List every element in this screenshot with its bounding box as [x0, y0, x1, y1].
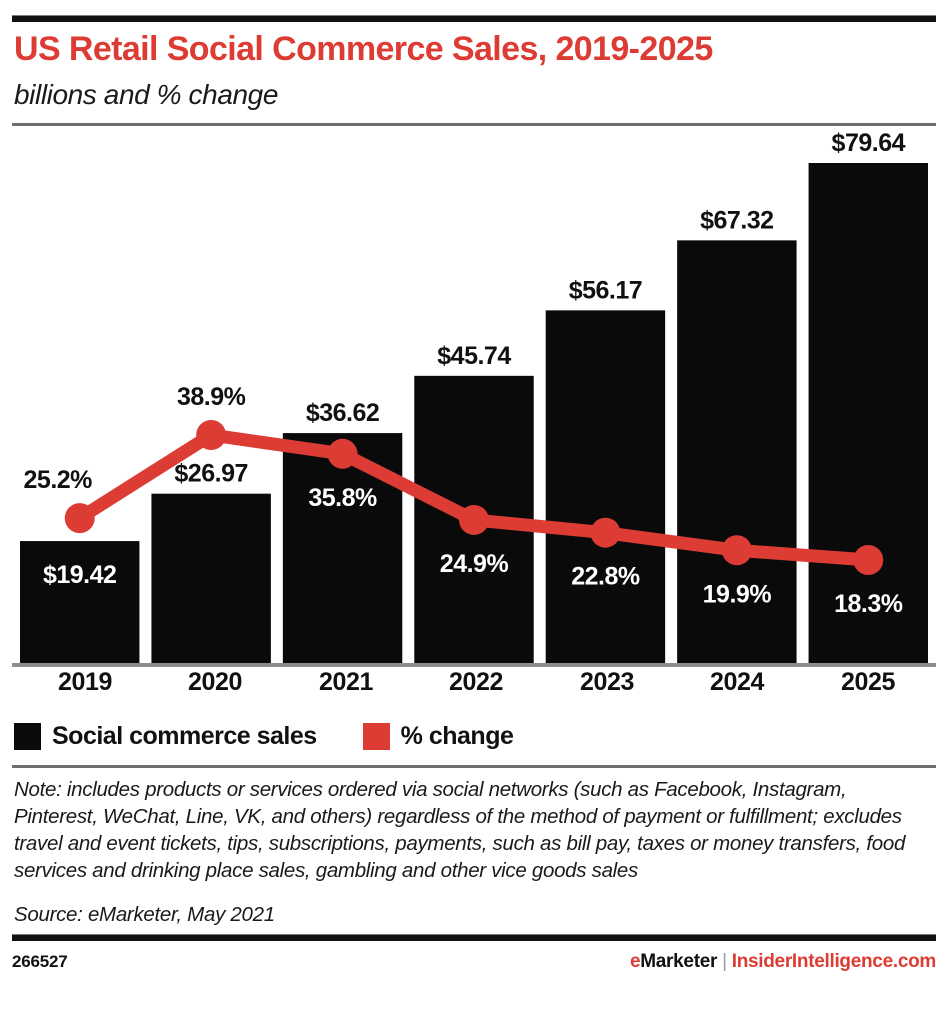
brand-separator: |	[722, 951, 727, 972]
bar-2025	[809, 163, 928, 663]
bar-rect-2023	[546, 310, 665, 663]
bar-rect-2025	[809, 163, 928, 663]
pct-change-marker-2021	[328, 439, 358, 469]
legend-label-pct-change: % change	[401, 722, 514, 751]
pct-change-marker-2020	[196, 420, 226, 450]
pct-value-label-2020: 38.9%	[177, 383, 246, 411]
pct-change-marker-2024	[722, 535, 752, 565]
chart-svg: $19.42$26.97$36.62$45.74$56.17$67.32$79.…	[0, 128, 948, 668]
pct-value-label-2021: 35.8%	[308, 484, 377, 512]
chart-source: Source: eMarketer, May 2021	[14, 903, 919, 927]
x-axis-line	[12, 663, 936, 667]
x-tick-2019: 2019	[20, 668, 150, 697]
note-divider	[12, 765, 936, 768]
bar-2019	[20, 541, 139, 663]
legend-item-pct-change: % change	[363, 722, 514, 751]
x-tick-2020: 2020	[150, 668, 280, 697]
pct-value-label-2024: 19.9%	[703, 580, 772, 608]
pct-value-label-2019: 25.2%	[24, 466, 93, 494]
page-title: US Retail Social Commerce Sales, 2019-20…	[14, 32, 914, 68]
brand-site-link[interactable]: InsiderIntelligence.com	[732, 951, 936, 972]
pct-value-label-2025: 18.3%	[834, 590, 903, 618]
pct-value-label-2022: 24.9%	[440, 550, 509, 578]
bar-value-label-2025: $79.64	[832, 129, 906, 157]
chart-note: Note: includes products or services orde…	[14, 776, 919, 884]
bar-value-label-2020: $26.97	[174, 460, 247, 488]
bar-rect-2019	[20, 541, 139, 663]
legend-item-sales: Social commerce sales	[14, 722, 317, 751]
x-tick-2025: 2025	[803, 668, 933, 697]
header-divider	[12, 123, 936, 126]
pct-value-label-2023: 22.8%	[571, 563, 640, 591]
footer-brand: eMarketer|InsiderIntelligence.com	[630, 951, 936, 973]
footer-chart-id: 266527	[12, 952, 68, 972]
legend-label-sales: Social commerce sales	[52, 722, 317, 751]
chart-plot-area: $19.42$26.97$36.62$45.74$56.17$67.32$79.…	[0, 128, 948, 668]
pct-change-marker-2025	[853, 545, 883, 575]
top-rule	[12, 15, 936, 22]
chart-footer: 266527 eMarketer|InsiderIntelligence.com	[12, 948, 936, 976]
page-subtitle: billions and % change	[14, 80, 914, 111]
chart-page: US Retail Social Commerce Sales, 2019-20…	[0, 0, 948, 1010]
chart-legend: Social commerce sales % change	[14, 718, 513, 754]
x-tick-2023: 2023	[542, 668, 672, 697]
x-tick-2021: 2021	[281, 668, 411, 697]
bar-2020	[151, 494, 270, 663]
x-tick-2022: 2022	[411, 668, 541, 697]
bar-rect-2020	[151, 494, 270, 663]
pct-change-marker-2023	[590, 518, 620, 548]
bar-value-label-2019: $19.42	[43, 561, 116, 589]
bar-value-label-2023: $56.17	[569, 276, 642, 304]
bottom-rule	[12, 934, 936, 941]
pct-change-marker-2022	[459, 505, 489, 535]
bar-value-label-2021: $36.62	[306, 399, 379, 427]
legend-swatch-black-icon	[14, 723, 41, 750]
x-axis-tick-labels: 2019 2020 2021 2022 2023 2024 2025	[0, 668, 948, 708]
brand-marketer-text: Marketer	[640, 951, 717, 972]
legend-swatch-red-icon	[363, 723, 390, 750]
brand-e-mark: e	[630, 951, 640, 972]
bar-value-label-2022: $45.74	[437, 342, 511, 370]
pct-change-marker-2019	[65, 503, 95, 533]
x-tick-2024: 2024	[672, 668, 802, 697]
bar-value-label-2024: $67.32	[700, 206, 773, 234]
bar-2023	[546, 310, 665, 663]
